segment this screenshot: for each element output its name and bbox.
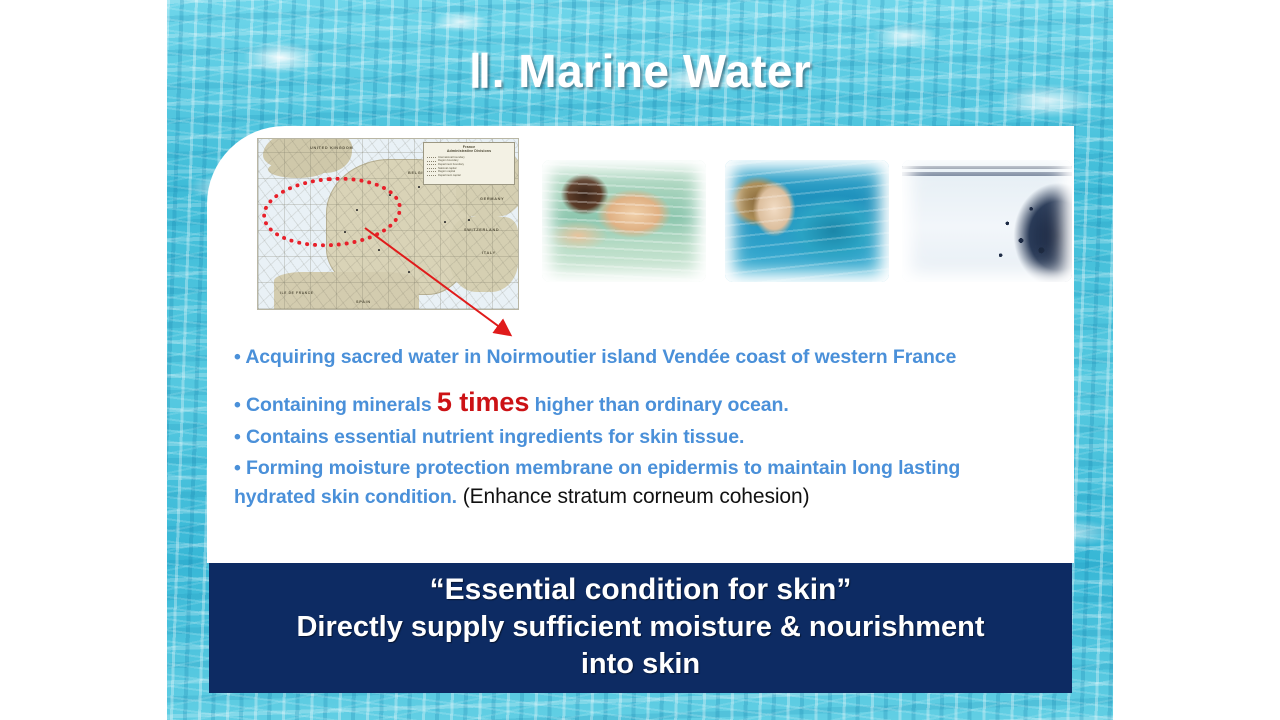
presentation-slide: Ⅱ. Marine Water UNITED KINGDOM [167, 0, 1113, 720]
slide-stage: Ⅱ. Marine Water UNITED KINGDOM [0, 0, 1280, 720]
bullet-item-3: • Contains essential nutrient ingredient… [234, 424, 1046, 452]
photo-water-bubbles[interactable] [902, 160, 1072, 282]
bullet-item-4: • Forming moisture protection membrane o… [234, 455, 1046, 513]
map-legend: France Administrative Divisions Internat… [423, 142, 515, 185]
map-legend-title-2: Administrative Divisions [427, 149, 511, 153]
photo-woman-drinking-water[interactable] [542, 160, 706, 282]
map-legend-label: Department capital [438, 174, 461, 178]
photo-soft-edge [725, 160, 889, 282]
map-legend-row: Department capital [427, 174, 511, 178]
bullet-item-1: • Acquiring sacred water in Noirmoutier … [234, 344, 1046, 372]
map-frame: UNITED KINGDOM BELGIUM GERMANY SWITZERLA… [257, 138, 519, 310]
bullet-list: • Acquiring sacred water in Noirmoutier … [234, 344, 1046, 512]
photo-soft-edge [542, 160, 706, 282]
photo-woman-underwater[interactable] [725, 160, 889, 282]
letterbox-right [1113, 0, 1280, 720]
bullet-2-highlight: 5 times [437, 387, 529, 417]
banner-line-3: into skin [581, 646, 700, 684]
content-panel: UNITED KINGDOM BELGIUM GERMANY SWITZERLA… [207, 126, 1074, 563]
photo-soft-edge [902, 160, 1072, 282]
bullet-2-pre: • Containing minerals [234, 394, 437, 416]
bullet-4-paren: (Enhance stratum corneum cohesion) [457, 485, 810, 508]
letterbox-left [0, 0, 167, 720]
bullet-2-post: higher than ordinary ocean. [529, 394, 788, 416]
banner-line-2: Directly supply sufficient moisture & no… [296, 609, 984, 647]
banner-line-1: “Essential condition for skin” [430, 572, 852, 609]
media-strip: UNITED KINGDOM BELGIUM GERMANY SWITZERLA… [257, 138, 1057, 314]
page-title: Ⅱ. Marine Water [167, 44, 1113, 98]
bullet-item-2: • Containing minerals 5 times higher tha… [234, 383, 1046, 421]
map-legend-rows: International boundary Region boundary D… [427, 156, 511, 178]
summary-banner: “Essential condition for skin” Directly … [209, 563, 1072, 693]
france-map[interactable]: UNITED KINGDOM BELGIUM GERMANY SWITZERLA… [257, 138, 519, 310]
